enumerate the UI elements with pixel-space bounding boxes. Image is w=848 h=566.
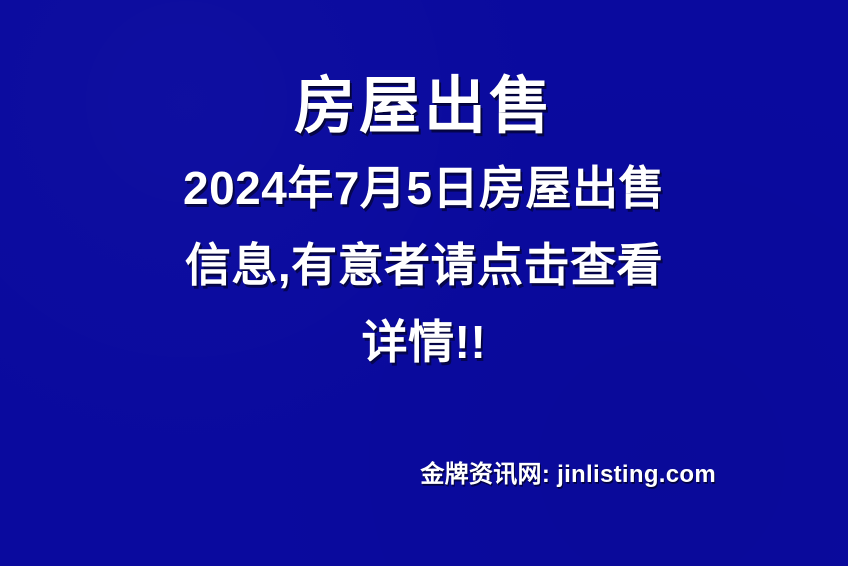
announcement-line-1: 2024年7月5日房屋出售 bbox=[124, 150, 724, 227]
announcement-body: 2024年7月5日房屋出售 信息,有意者请点击查看 详情!! bbox=[124, 150, 724, 381]
announcement-line-3: 详情!! bbox=[124, 304, 724, 381]
announcement-line-2: 信息,有意者请点击查看 bbox=[124, 227, 724, 304]
promo-poster: 房屋出售 2024年7月5日房屋出售 信息,有意者请点击查看 详情!! 金牌资讯… bbox=[0, 0, 848, 566]
source-watermark: 金牌资讯网: jinlisting.com bbox=[124, 458, 716, 492]
page-title: 房屋出售 bbox=[0, 71, 848, 142]
